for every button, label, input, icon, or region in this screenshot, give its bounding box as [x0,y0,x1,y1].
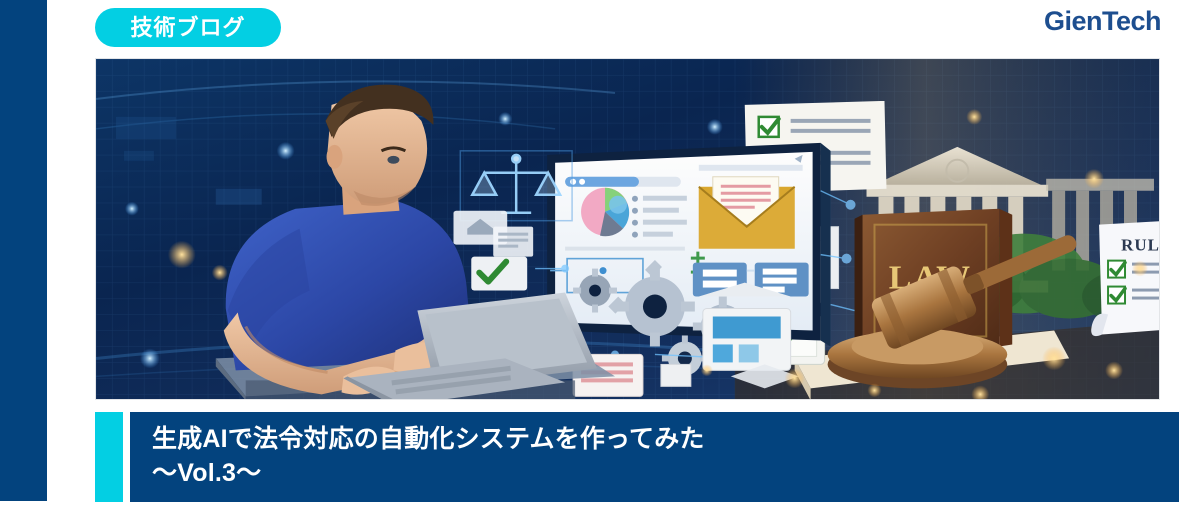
left-brand-rail [0,0,47,501]
category-badge-label: 技術ブログ [130,17,245,39]
hero-illustration: LAW RULES [96,59,1159,400]
article-title-line-2: 〜Vol.3〜 [152,456,1179,490]
hero-image: LAW RULES [95,58,1160,400]
blog-header-page: 技術ブログ GienTech [0,0,1179,511]
article-title-line-1: 生成AIで法令対応の自動化システムを作ってみた [152,422,1179,456]
title-accent-bar [95,412,123,502]
email-envelope-icon [699,177,795,249]
rules-scroll-heading: RULES [1121,236,1159,255]
category-badge[interactable]: 技術ブログ [95,8,281,47]
article-title-band: 生成AIで法令対応の自動化システムを作ってみた 〜Vol.3〜 [130,412,1179,502]
rules-scroll: RULES [1091,219,1159,336]
gientech-logo[interactable]: GienTech [1044,8,1161,35]
